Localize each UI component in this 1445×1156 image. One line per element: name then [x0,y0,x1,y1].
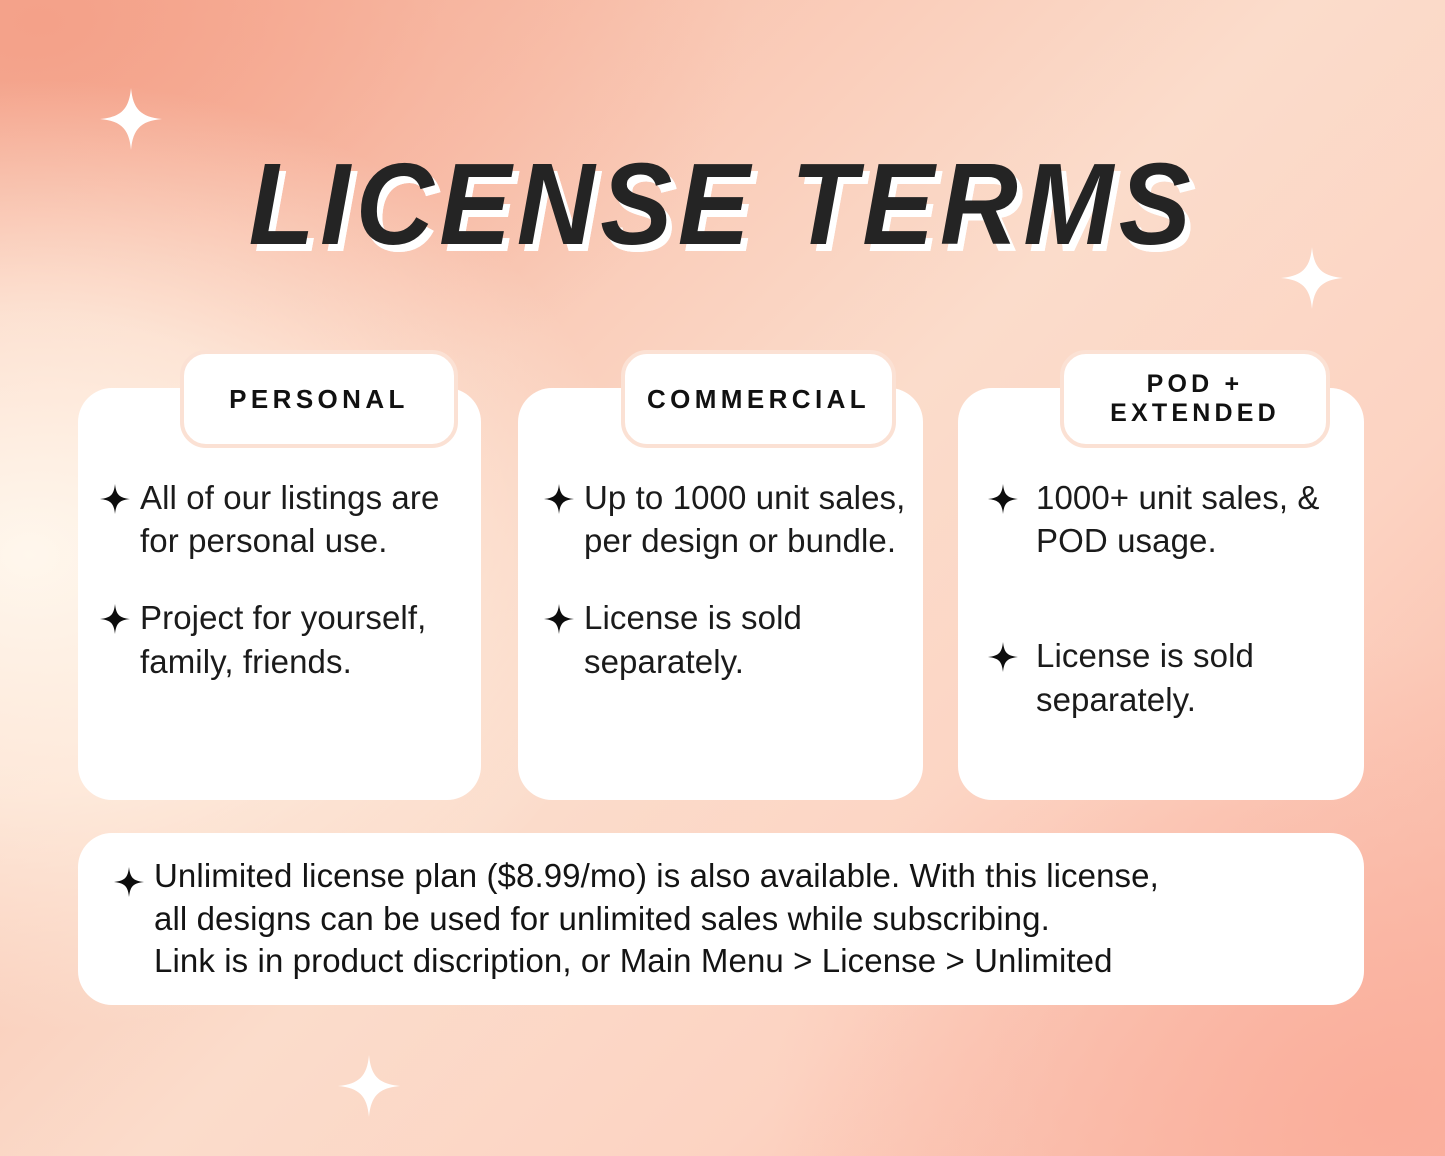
list-item-text: Up to 1000 unit sales, per design or bun… [584,476,913,562]
card-commercial-content: Up to 1000 unit sales, per design or bun… [518,476,923,683]
banner-text: Unlimited license plan ($8.99/mo) is als… [154,855,1159,984]
license-card-commercial[interactable]: COMMERCIAL Up to 1000 unit sales, per de… [518,350,923,800]
tab-personal-label: PERSONAL [223,384,415,415]
license-terms-graphic: LICENSE TERMS PERSONAL All of our listin… [0,0,1445,1156]
list-item: Up to 1000 unit sales, per design or bun… [544,476,913,562]
license-cards-row: PERSONAL All of our listings are for per… [78,350,1364,800]
sparkle-star-icon [114,867,144,897]
list-item-text: License is sold separately. [584,596,913,682]
list-item: License is sold separately. [544,596,913,682]
list-item: License is sold separately. [988,634,1350,720]
sparkle-bottom-icon [338,1055,400,1117]
card-personal-content: All of our listings are for personal use… [78,476,481,683]
list-item-text: License is sold separately. [1036,634,1350,720]
list-item: 1000+ unit sales, & POD usage. [988,476,1350,562]
sparkle-star-icon [100,484,130,514]
list-item: Project for yourself, family, friends. [100,596,467,682]
banner-content: Unlimited license plan ($8.99/mo) is als… [114,855,1159,984]
unlimited-license-banner[interactable]: Unlimited license plan ($8.99/mo) is als… [78,833,1364,1005]
page-title-container: LICENSE TERMS [0,146,1445,262]
sparkle-star-icon [100,604,130,634]
tab-commercial[interactable]: COMMERCIAL [621,350,896,448]
card-pod-extended-content: 1000+ unit sales, & POD usage. License i… [958,476,1364,721]
tab-personal[interactable]: PERSONAL [180,350,458,448]
tab-pod-extended[interactable]: POD + EXTENDED [1060,350,1330,448]
page-title: LICENSE TERMS [249,146,1197,262]
sparkle-star-icon [988,642,1018,672]
tab-pod-extended-label: POD + EXTENDED [1104,370,1286,429]
sparkle-star-icon [544,604,574,634]
list-item-text: All of our listings are for personal use… [140,476,467,562]
license-card-pod-extended[interactable]: POD + EXTENDED 1000+ unit sales, & POD u… [958,350,1364,800]
sparkle-star-icon [544,484,574,514]
list-item-text: Project for yourself, family, friends. [140,596,467,682]
tab-commercial-label: COMMERCIAL [641,384,876,415]
list-item-text: 1000+ unit sales, & POD usage. [1036,476,1350,562]
list-item: All of our listings are for personal use… [100,476,467,562]
sparkle-star-icon [988,484,1018,514]
license-card-personal[interactable]: PERSONAL All of our listings are for per… [78,350,481,800]
sparkle-top-left-icon [100,88,162,150]
